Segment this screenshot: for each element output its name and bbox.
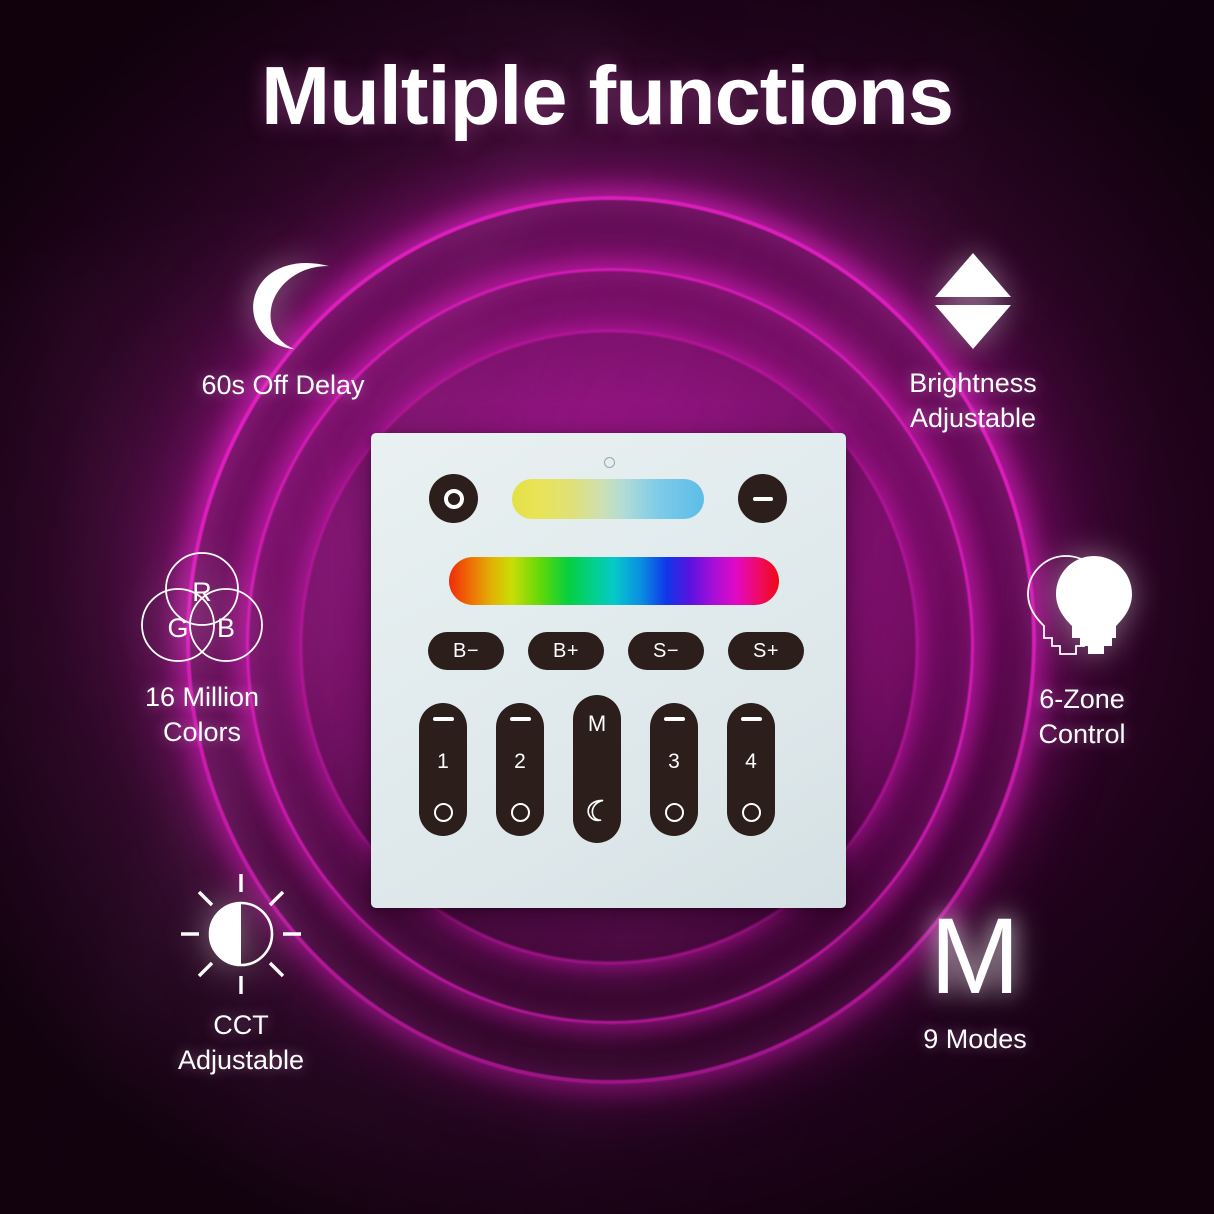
power-button[interactable]	[429, 474, 478, 523]
circle-icon	[434, 803, 453, 822]
button-label: B−	[453, 640, 479, 663]
double-bulb-icon	[962, 546, 1202, 670]
button-label: S−	[653, 640, 679, 663]
rgb-venn-icon: R G B	[52, 548, 352, 668]
minus-button[interactable]	[738, 474, 787, 523]
circle-icon	[742, 803, 761, 822]
page-title: Multiple functions	[0, 52, 1214, 139]
zone-number: 1	[437, 751, 449, 772]
zone-2-button[interactable]: 2	[496, 703, 544, 836]
zone-4-button[interactable]: 4	[727, 703, 775, 836]
feature-label: 9 Modes	[880, 1022, 1070, 1057]
slider-indicator-icon	[604, 457, 615, 468]
brightness-down-button[interactable]: B−	[428, 632, 504, 670]
letter-m-glyph: M	[930, 902, 1020, 1010]
venn-b-label: B	[217, 613, 235, 643]
speed-up-button[interactable]: S+	[728, 632, 804, 670]
up-down-triangles-icon	[828, 248, 1118, 354]
led-control-panel: B− B+ S− S+ 1 2 M	[371, 433, 846, 908]
mode-letter: M	[588, 713, 606, 735]
promo-graphic: Multiple functions 60s Off Delay Brightn…	[0, 0, 1214, 1214]
venn-g-label: G	[167, 613, 188, 643]
button-label: S+	[753, 640, 779, 663]
feature-brightness: Brightness Adjustable	[828, 248, 1118, 435]
dash-icon	[741, 717, 762, 721]
feature-label: Brightness Adjustable	[828, 366, 1118, 435]
speed-down-button[interactable]: S−	[628, 632, 704, 670]
zone-number: 3	[668, 751, 680, 772]
half-sun-icon	[128, 872, 354, 996]
crescent-moon-icon	[118, 248, 448, 356]
cct-slider[interactable]	[512, 479, 704, 519]
power-ring-icon	[444, 489, 464, 509]
zone-number: 4	[745, 751, 757, 772]
circle-icon	[511, 803, 530, 822]
feature-colors: R G B 16 Million Colors	[52, 548, 352, 749]
feature-label: 6-Zone Control	[962, 682, 1202, 751]
circle-icon	[665, 803, 684, 822]
button-label: B+	[553, 640, 579, 663]
feature-label: 60s Off Delay	[118, 368, 448, 403]
crescent-moon-icon	[586, 798, 608, 827]
dash-icon	[433, 717, 454, 721]
feature-cct: CCT Adjustable	[128, 872, 354, 1077]
rgb-color-bar[interactable]	[449, 557, 779, 605]
brightness-up-button[interactable]: B+	[528, 632, 604, 670]
mode-button[interactable]: M	[573, 695, 621, 843]
feature-modes: M 9 Modes	[880, 902, 1070, 1057]
letter-m-icon: M	[880, 902, 1070, 1010]
feature-zone-control: 6-Zone Control	[962, 546, 1202, 751]
minus-icon	[753, 497, 773, 501]
zone-number: 2	[514, 751, 526, 772]
feature-label: CCT Adjustable	[128, 1008, 354, 1077]
feature-off-delay: 60s Off Delay	[118, 248, 448, 403]
feature-label: 16 Million Colors	[52, 680, 352, 749]
zone-1-button[interactable]: 1	[419, 703, 467, 836]
dash-icon	[664, 717, 685, 721]
dash-icon	[510, 717, 531, 721]
venn-r-label: R	[192, 577, 212, 607]
zone-3-button[interactable]: 3	[650, 703, 698, 836]
